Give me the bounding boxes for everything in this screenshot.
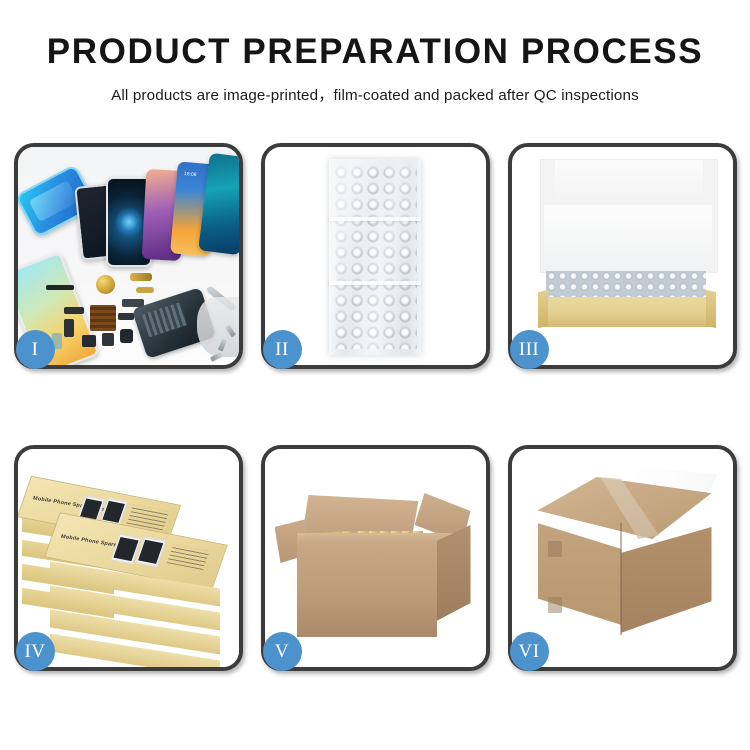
carton-right-face-icon	[621, 527, 712, 633]
taptic-engine-icon	[120, 329, 133, 343]
step-image-4: Mobile Phone Spare Parts Mobile Phone Sp…	[18, 449, 239, 667]
speaker-box-icon	[102, 333, 114, 346]
wrap-sheen	[329, 159, 421, 355]
connector-part-icon	[64, 307, 84, 314]
carton-seam-top	[548, 541, 562, 557]
bubble-wrap-pouch-icon	[329, 159, 421, 355]
box-stack-icon: Mobile Phone Spare Parts Mobile Phone Sp…	[22, 471, 239, 659]
step-image-6	[512, 449, 733, 667]
chip-grid-icon	[90, 305, 116, 331]
page-subtitle: All products are image-printed，film-coat…	[0, 83, 750, 105]
vibration-motor-icon	[96, 275, 115, 294]
step-panel-2: II	[261, 143, 490, 369]
product-preparation-infographic: PRODUCT PREPARATION PROCESS All products…	[0, 0, 750, 750]
step-image-3	[512, 147, 733, 365]
step-badge-5: V	[263, 632, 302, 671]
step-image-2	[265, 147, 486, 365]
sensor-part-icon	[118, 313, 134, 320]
step-panel-5: V	[261, 445, 490, 671]
side-bracket-icon	[64, 319, 74, 337]
carton-seam-bottom	[548, 597, 562, 613]
header: PRODUCT PREPARATION PROCESS All products…	[0, 0, 750, 105]
charging-port-icon	[82, 335, 96, 347]
page-title: PRODUCT PREPARATION PROCESS	[0, 34, 750, 71]
kraft-box-tray-icon	[538, 297, 716, 327]
step-image-1: 16:08	[18, 147, 239, 365]
step-badge-3: III	[510, 330, 549, 369]
carton-front-face-icon	[297, 541, 437, 637]
step-panel-1: 16:08	[14, 143, 243, 369]
flex-cable-small-icon	[136, 287, 154, 293]
carton-vertical-edge	[620, 523, 622, 635]
step-badge-1: I	[16, 330, 55, 369]
step-image-5	[265, 449, 486, 667]
step-panel-4: Mobile Phone Spare Parts Mobile Phone Sp…	[14, 445, 243, 671]
process-steps-grid: 16:08	[0, 143, 750, 671]
step-panel-3: III	[508, 143, 737, 369]
step-badge-4: IV	[16, 632, 55, 671]
step-panel-6: VI	[508, 445, 737, 671]
flex-cable-gold-icon	[130, 273, 152, 281]
bubble-wrapped-items-icon	[546, 271, 706, 299]
step-badge-6: VI	[510, 632, 549, 671]
earpiece-speaker-icon	[46, 285, 74, 290]
step-badge-2: II	[263, 330, 302, 369]
carton-right-side-icon	[437, 525, 471, 621]
foam-sheet-icon	[544, 205, 712, 271]
